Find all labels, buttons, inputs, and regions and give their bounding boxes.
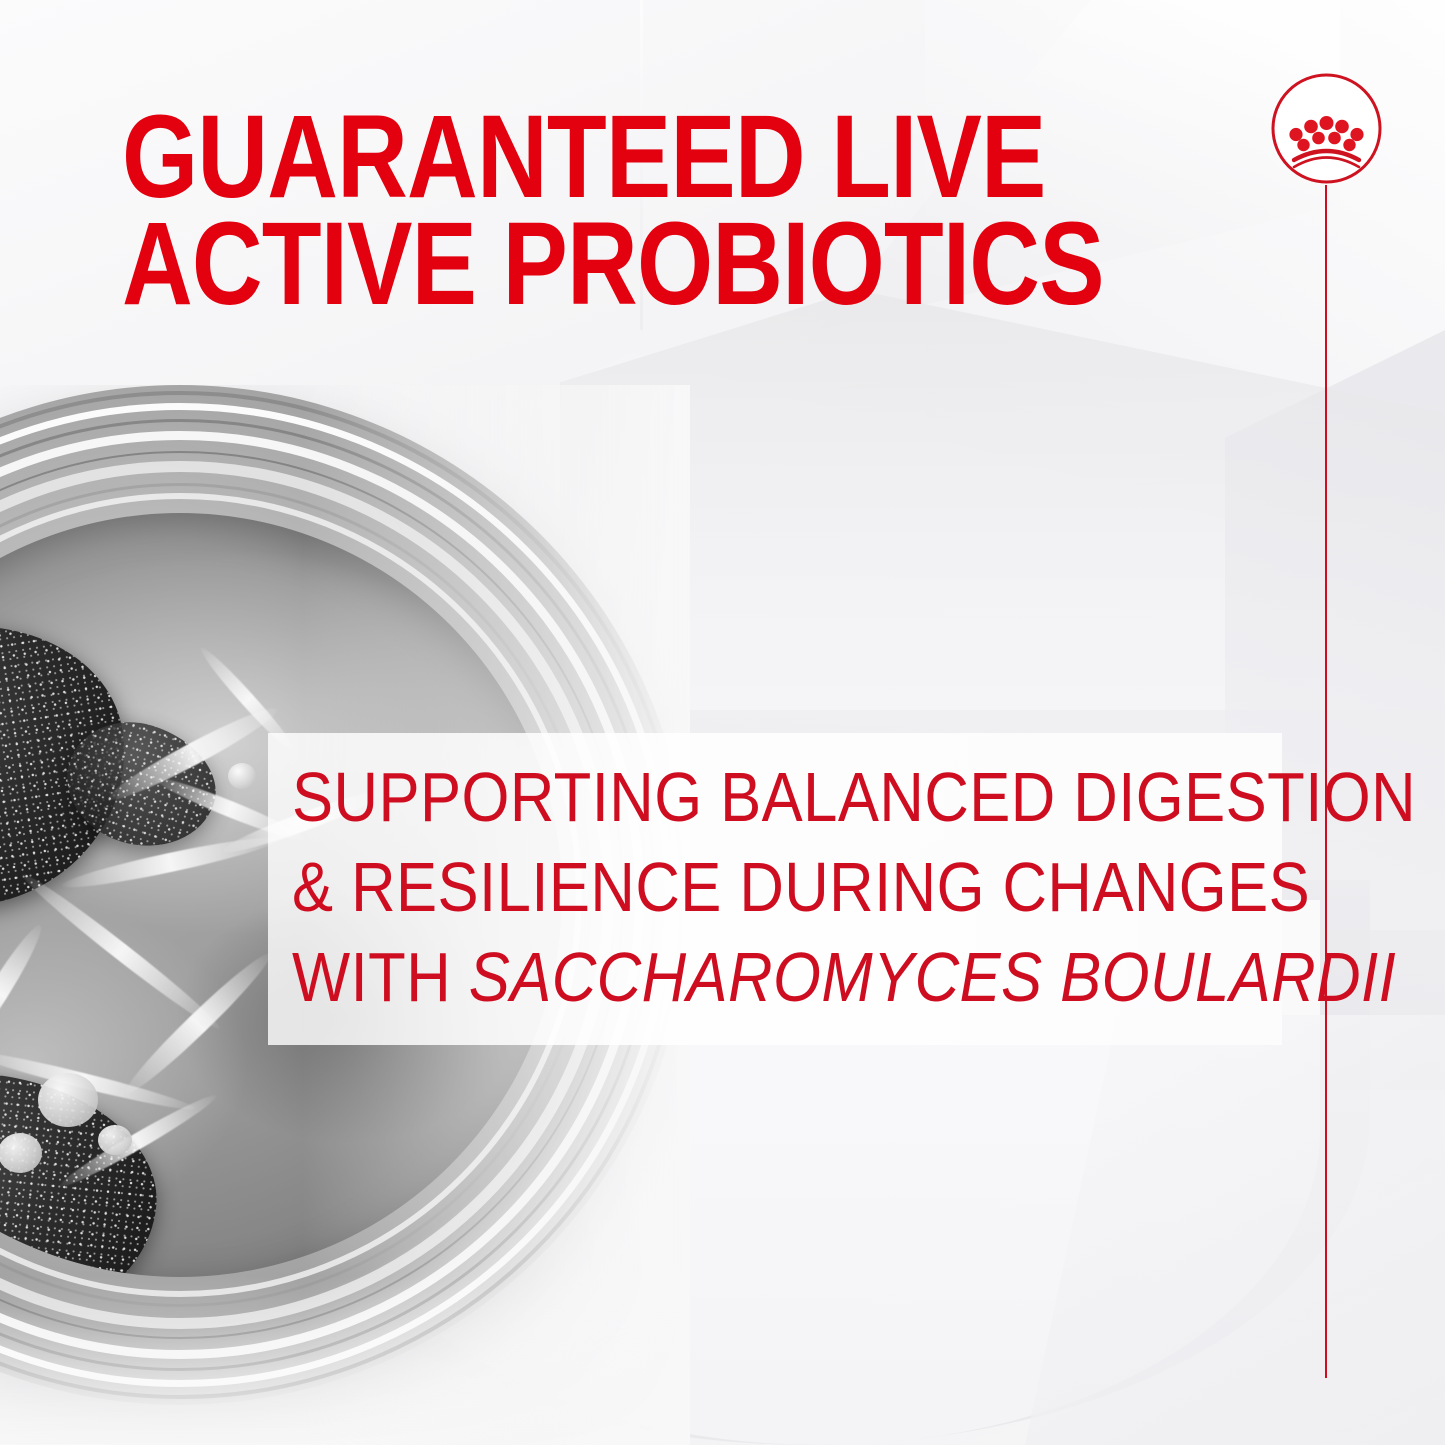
- page-title: GUARANTEED LIVE ACTIVE PROBIOTICS: [122, 104, 960, 318]
- body-copy-line-2: & RESILIENCE DURING CHANGES: [292, 842, 1172, 932]
- headline-line-2: ACTIVE PROBIOTICS: [122, 211, 960, 318]
- body-copy-line-3-prefix: WITH: [292, 938, 469, 1016]
- royal-canin-crown-logo: [1270, 72, 1383, 185]
- body-copy-line-3: WITH SACCHAROMYCES BOULARDII: [292, 932, 1172, 1022]
- headline-line-1: GUARANTEED LIVE: [122, 104, 960, 211]
- promo-banner: GUARANTEED LIVE ACTIVE PROBIOTICS SUPPOR…: [0, 0, 1445, 1445]
- food-droplet: [228, 763, 256, 789]
- brand-vertical-rule: [1325, 185, 1327, 1378]
- food-droplet: [0, 1133, 42, 1173]
- body-copy: SUPPORTING BALANCED DIGESTION & RESILIEN…: [292, 752, 1172, 1022]
- body-copy-line-1: SUPPORTING BALANCED DIGESTION: [292, 752, 1172, 842]
- scientific-name: SACCHAROMYCES BOULARDII: [469, 938, 1396, 1016]
- food-droplet: [98, 1125, 132, 1155]
- food-droplet: [38, 1073, 98, 1127]
